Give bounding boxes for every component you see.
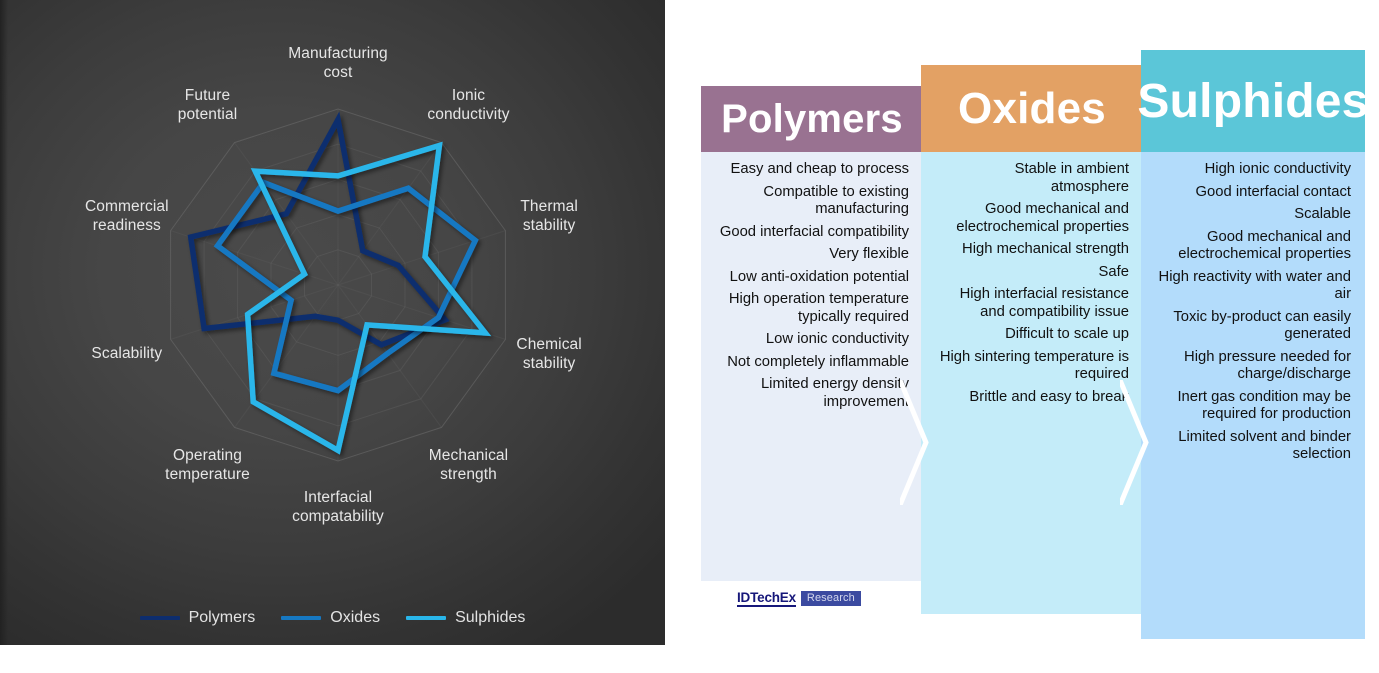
column-body-polymers: Easy and cheap to processCompatible to e… — [701, 152, 923, 581]
radar-axis-label-2: Thermal stability — [479, 197, 619, 235]
column-bullet: High sintering temperature is required — [935, 349, 1129, 384]
column-bullet: Stable in ambient atmosphere — [935, 161, 1129, 196]
column-header-oxides: Oxides — [921, 65, 1143, 152]
column-bullet: High interfacial resistance and compatib… — [935, 286, 1129, 321]
radar-legend-item-oxides: Oxides — [281, 609, 380, 627]
column-body-oxides: Stable in ambient atmosphereGood mechani… — [921, 152, 1143, 614]
column-bullet: Scalable — [1155, 206, 1351, 224]
column-header-sulphides: Sulphides — [1141, 50, 1365, 152]
column-bullet: High ionic conductivity — [1155, 161, 1351, 179]
column-bullet: Inert gas condition may be required for … — [1155, 389, 1351, 424]
legend-swatch-icon — [281, 616, 321, 620]
radar-legend-label: Sulphides — [455, 609, 525, 627]
comparison-columns: PolymersEasy and cheap to processCompati… — [700, 0, 1379, 673]
idtechex-logo: IDTechEx Research — [737, 590, 861, 607]
column-bullet: Good interfacial compatibility — [715, 224, 909, 242]
column-bullet: Difficult to scale up — [935, 326, 1129, 344]
radar-legend-label: Polymers — [189, 609, 256, 627]
radar-legend-item-sulphides: Sulphides — [406, 609, 525, 627]
column-bullet: High reactivity with water and air — [1155, 269, 1351, 304]
radar-legend-label: Oxides — [330, 609, 380, 627]
column-bullet: Not completely inflammable — [715, 354, 909, 372]
column-body-sulphides: High ionic conductivityGood interfacial … — [1141, 152, 1365, 639]
comparison-column-oxides[interactable]: OxidesStable in ambient atmosphereGood m… — [921, 0, 1143, 673]
radar-chart-panel: Manufacturing costIonic conductivityTher… — [0, 0, 665, 645]
radar-axis-label-0: Manufacturing cost — [268, 44, 408, 82]
radar-axis-label-8: Commercial readiness — [57, 197, 197, 235]
column-bullet: Good mechanical and electrochemical prop… — [935, 201, 1129, 236]
column-bullet: High pressure needed for charge/discharg… — [1155, 349, 1351, 384]
column-bullet: Safe — [935, 264, 1129, 282]
screenshot-root: Manufacturing costIonic conductivityTher… — [0, 0, 1379, 673]
radar-series-oxides — [218, 183, 476, 391]
column-bullet: High mechanical strength — [935, 241, 1129, 259]
radar-axis-label-5: Interfacial compatability — [268, 488, 408, 526]
column-bullet: Very flexible — [715, 246, 909, 264]
column-bullet: Low anti-oxidation potential — [715, 269, 909, 287]
radar-axis-spoke — [338, 285, 442, 427]
radar-axis-label-7: Scalability — [57, 344, 197, 363]
column-bullet: Limited energy density improvement — [715, 376, 909, 411]
radar-legend-item-polymers: Polymers — [140, 609, 256, 627]
column-bullet: Toxic by-product can easily generated — [1155, 309, 1351, 344]
column-bullet: Brittle and easy to break — [935, 389, 1129, 407]
comparison-column-sulphides[interactable]: SulphidesHigh ionic conductivityGood int… — [1141, 0, 1365, 673]
radar-chart-svg — [0, 0, 665, 560]
column-bullet: Compatible to existing manufacturing — [715, 184, 909, 219]
legend-swatch-icon — [140, 616, 180, 620]
column-bullet: Good mechanical and electrochemical prop… — [1155, 229, 1351, 264]
radar-axis-label-1: Ionic conductivity — [398, 86, 538, 124]
column-header-polymers: Polymers — [701, 86, 923, 152]
radar-legend: PolymersOxidesSulphides — [0, 609, 665, 627]
radar-axis-label-9: Future potential — [138, 86, 278, 124]
column-bullet: Easy and cheap to process — [715, 161, 909, 179]
comparison-column-polymers[interactable]: PolymersEasy and cheap to processCompati… — [701, 0, 923, 673]
legend-swatch-icon — [406, 616, 446, 620]
radar-axis-label-6: Operating temperature — [138, 446, 278, 484]
column-bullet: High operation temperature typically req… — [715, 291, 909, 326]
radar-axis-label-4: Mechanical strength — [398, 446, 538, 484]
column-bullet: Good interfacial contact — [1155, 184, 1351, 202]
idtechex-logo-tag: Research — [801, 591, 861, 606]
radar-axis-label-3: Chemical stability — [479, 335, 619, 373]
column-bullet: Low ionic conductivity — [715, 331, 909, 349]
idtechex-logo-word: IDTechEx — [737, 590, 796, 607]
column-bullet: Limited solvent and binder selection — [1155, 429, 1351, 464]
